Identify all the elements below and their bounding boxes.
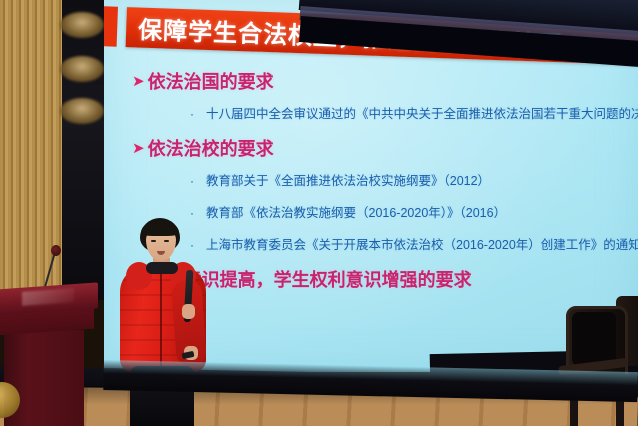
presentation-photo-scene: 保障学生合法权益，推进高校学生管理 ➤ 依法治国的要求 · 十八届四中全会审议通…	[0, 0, 638, 426]
arrow-bullet-icon: ➤	[132, 74, 145, 89]
bullet-dot-icon: ·	[190, 174, 206, 188]
section-heading-1: ➤ 依法治国的要求	[132, 68, 638, 94]
wooden-podium	[0, 286, 98, 426]
wall-lamp-icon	[60, 12, 104, 38]
jacket-zipper	[160, 272, 162, 370]
wall-dark-strip	[62, 0, 108, 300]
chair-cushion	[572, 312, 616, 366]
presenter-collar	[146, 262, 178, 274]
section-heading-2: ➤ 依法治校的要求	[132, 135, 638, 161]
bullet-text: 教育部《依法治教实施纲要（2016-2020年）》（2016）	[206, 202, 506, 221]
list-item: · 十八届四中全会审议通过的《中共中央关于全面推进依法治国若干重大问题的决	[132, 103, 638, 122]
bullet-dot-icon: ·	[190, 107, 206, 121]
microphone-icon	[51, 245, 61, 256]
section-1-bullets: · 十八届四中全会审议通过的《中共中央关于全面推进依法治国若干重大问题的决	[132, 103, 638, 122]
arrow-bullet-icon: ➤	[132, 141, 145, 156]
presenter-in-red-jacket	[108, 218, 218, 426]
bullet-text: 教育部关于《全面推进依法治校实施纲要》（2012）	[206, 170, 490, 189]
bullet-text: 十八届四中全会审议通过的《中共中央关于全面推进依法治国若干重大问题的决	[206, 103, 638, 122]
section-heading-2-label: 依法治校的要求	[148, 135, 274, 161]
podium-base	[4, 330, 84, 426]
bullet-text: 上海市教育委员会《关于开展本市依法治校（2016-2020年）创建工作》的通知	[206, 234, 638, 253]
wall-lamp-icon	[60, 56, 104, 82]
wall-lamp-icon	[60, 98, 104, 124]
list-item: · 教育部关于《全面推进依法治校实施纲要》（2012）	[132, 170, 638, 189]
title-accent-chip	[104, 6, 118, 47]
presenter-eye-left	[151, 240, 156, 242]
section-heading-1-label: 依法治国的要求	[148, 68, 274, 94]
stage-chair	[556, 306, 638, 426]
presenter-eye-right	[164, 240, 169, 242]
presenter-hand-upper	[182, 304, 195, 319]
